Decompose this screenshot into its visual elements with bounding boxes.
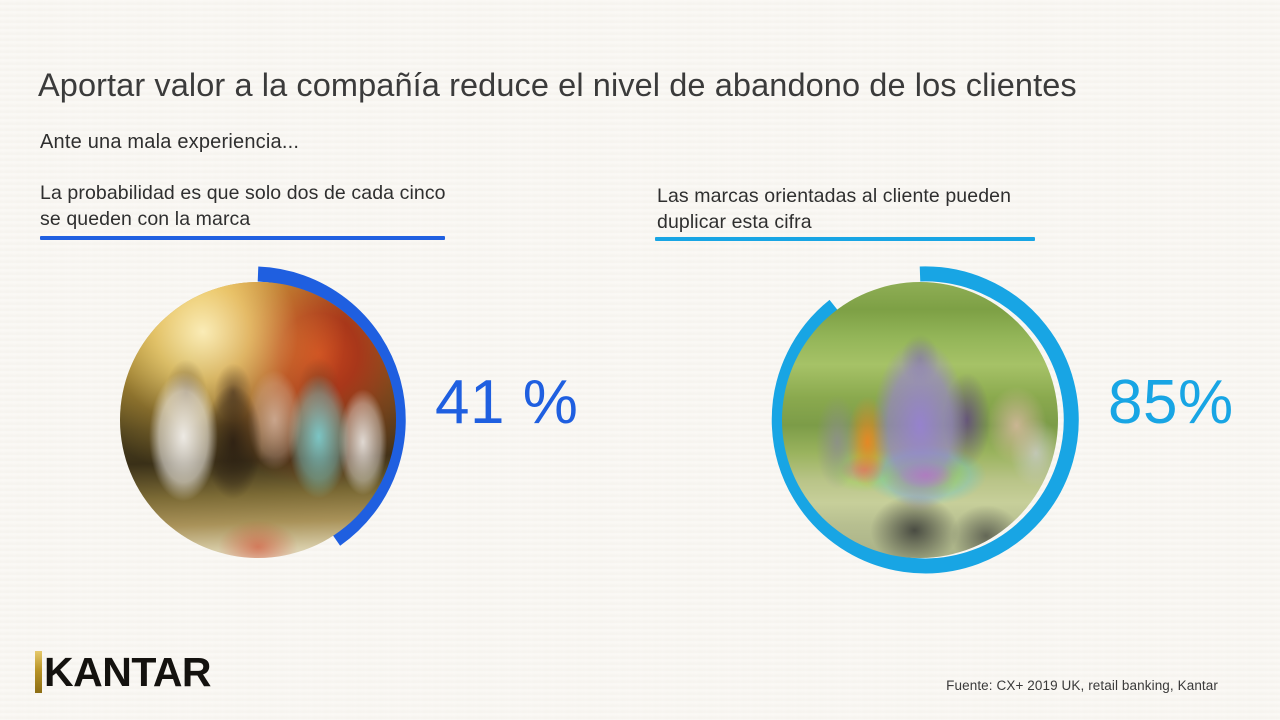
logo-wordmark: KANTAR [44,651,211,693]
photo-left [120,282,396,558]
donut-chart-left [98,260,418,580]
column-heading-right: Las marcas orientadas al cliente pueden … [657,183,1057,235]
logo-accent-bar-icon [35,651,42,693]
slide-canvas: Aportar valor a la compañía reduce el ni… [0,0,1280,720]
kicker-text: Ante una mala experiencia... [40,131,299,154]
underline-rule-left [40,236,445,240]
value-label-right: 85% [1108,372,1234,434]
underline-rule-right [655,237,1035,241]
column-heading-left: La probabilidad es que solo dos de cada … [40,180,470,232]
photo-right [782,282,1058,558]
value-label-left: 41 % [435,372,578,434]
kantar-logo: KANTAR [35,650,211,694]
source-note: Fuente: CX+ 2019 UK, retail banking, Kan… [946,678,1218,693]
donut-chart-right [760,260,1080,580]
page-title: Aportar valor a la compañía reduce el ni… [38,67,1238,104]
